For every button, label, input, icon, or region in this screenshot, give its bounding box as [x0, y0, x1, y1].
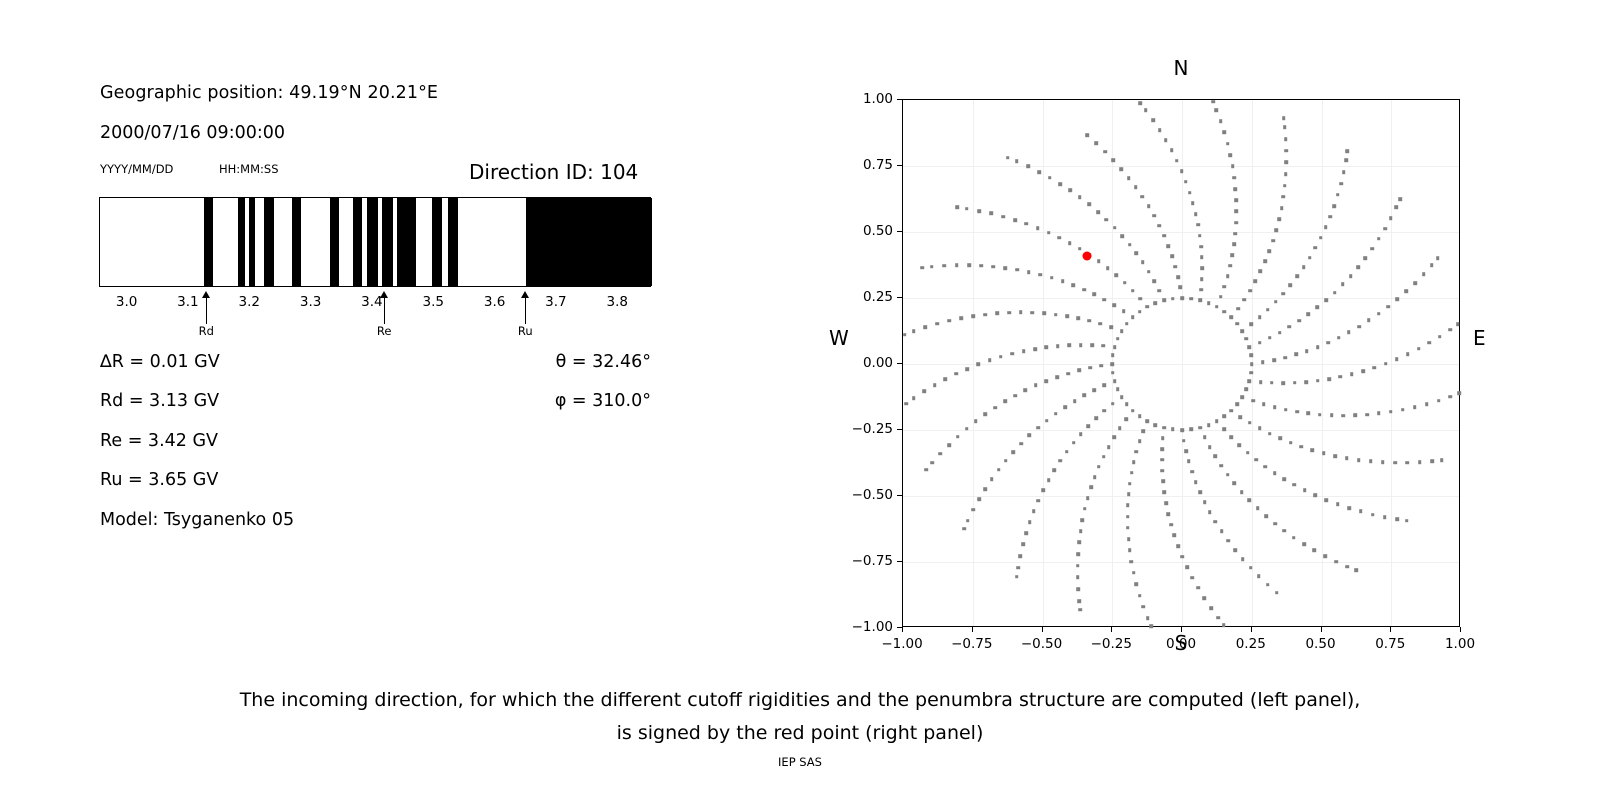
direction-point	[1116, 387, 1120, 391]
direction-point	[1138, 594, 1142, 598]
direction-point	[1236, 402, 1240, 406]
direction-point	[1185, 565, 1189, 569]
direction-point	[967, 264, 971, 268]
direction-point	[1272, 358, 1276, 362]
direction-point	[1293, 483, 1297, 487]
direction-point	[1278, 436, 1282, 440]
direction-point	[1094, 417, 1098, 421]
direction-point	[1229, 153, 1233, 157]
direction-point	[1154, 423, 1158, 427]
direction-point	[1308, 256, 1312, 260]
direction-point	[1393, 461, 1397, 465]
rigidity-tick-label: 3.2	[239, 294, 260, 310]
direction-point	[1449, 395, 1453, 399]
y-axis-tick-label: 1.00	[863, 91, 893, 107]
arrow-label: Ru	[518, 324, 533, 338]
direction-point	[1342, 170, 1346, 174]
direction-point	[1422, 273, 1426, 277]
direction-point	[1124, 418, 1128, 422]
direction-point	[1389, 216, 1393, 220]
direction-point	[1068, 343, 1072, 347]
direction-point	[1163, 490, 1167, 494]
direction-point	[1437, 399, 1441, 403]
direction-point	[1241, 557, 1245, 561]
direction-point	[1089, 486, 1093, 490]
direction-point	[1281, 292, 1285, 296]
direction-point	[1198, 298, 1202, 302]
direction-point	[1160, 447, 1164, 451]
direction-point	[1120, 395, 1124, 399]
direction-point	[1222, 623, 1226, 627]
direction-point	[1082, 394, 1086, 398]
compass-north-label: N	[1174, 56, 1189, 80]
direction-point	[1128, 482, 1132, 486]
direction-point	[1099, 364, 1103, 368]
direction-point	[1054, 412, 1058, 416]
direction-point	[1354, 568, 1358, 572]
direction-point	[1063, 405, 1067, 409]
grid-line-vertical	[973, 100, 974, 626]
direction-point	[1161, 480, 1165, 484]
x-axis-tick-mark	[1390, 627, 1391, 632]
arrow-label: Rd	[199, 324, 214, 338]
direction-point	[983, 313, 987, 317]
direction-point	[1248, 421, 1252, 425]
direction-point	[956, 435, 960, 439]
direction-point	[1344, 159, 1348, 163]
direction-point	[984, 412, 988, 416]
direction-point	[1110, 362, 1114, 366]
direction-point	[922, 390, 926, 394]
direction-point	[1056, 344, 1060, 348]
direction-point	[1021, 543, 1025, 547]
direction-point	[1102, 344, 1106, 348]
x-axis-tick-mark	[1251, 627, 1252, 632]
direction-point	[1328, 215, 1332, 219]
direction-point	[1230, 409, 1234, 413]
direction-id-label: Direction ID: 104	[469, 160, 638, 184]
y-axis-tick-label: −0.25	[852, 421, 893, 437]
direction-point	[1369, 460, 1373, 464]
direction-point	[1125, 322, 1129, 326]
x-axis-tick-mark	[1111, 627, 1112, 632]
direction-point	[1333, 454, 1337, 458]
direction-point	[1284, 408, 1288, 412]
parameter-left-value: Ru = 3.65 GV	[100, 470, 218, 490]
direction-point	[1161, 437, 1165, 441]
direction-point	[1428, 341, 1432, 345]
direction-point	[1127, 176, 1131, 180]
direction-point	[1135, 450, 1139, 454]
direction-point	[1045, 345, 1049, 349]
direction-point	[1149, 625, 1153, 629]
direction-point	[1405, 519, 1409, 523]
direction-point	[1394, 206, 1398, 210]
direction-point	[1223, 131, 1227, 135]
penumbra-forbidden-band	[367, 198, 378, 286]
direction-point	[1236, 307, 1240, 311]
penumbra-plot-area	[99, 197, 651, 287]
direction-point	[1173, 265, 1177, 269]
direction-point	[1037, 499, 1041, 503]
direction-point	[1047, 478, 1051, 482]
direction-point	[1120, 234, 1124, 238]
direction-point	[1258, 315, 1262, 319]
y-axis-tick-mark	[897, 429, 902, 430]
direction-point	[1096, 210, 1100, 214]
direction-point	[1270, 381, 1274, 385]
rigidity-tick-label: 3.6	[484, 294, 505, 310]
direction-point	[1107, 445, 1111, 449]
direction-point	[1013, 218, 1017, 222]
direction-point	[1280, 206, 1284, 210]
direction-point	[1093, 475, 1097, 479]
direction-point	[1258, 341, 1262, 345]
penumbra-forbidden-band	[526, 198, 652, 286]
direction-point	[1160, 469, 1164, 473]
direction-point	[1198, 426, 1202, 430]
direction-point	[1263, 259, 1267, 263]
direction-point	[1130, 471, 1134, 475]
caption-line-1: The incoming direction, for which the di…	[0, 684, 1600, 717]
direction-point	[1248, 498, 1252, 502]
direction-point	[1248, 379, 1252, 383]
direction-point	[1076, 552, 1080, 556]
direction-point	[1087, 203, 1091, 207]
direction-point	[1007, 311, 1011, 315]
direction-point	[1250, 362, 1254, 366]
direction-point	[1228, 264, 1232, 268]
direction-point	[1171, 297, 1175, 301]
direction-point	[1214, 520, 1218, 524]
direction-point	[999, 355, 1003, 359]
direction-point	[1282, 116, 1286, 120]
direction-point	[1251, 399, 1255, 403]
direction-point	[933, 383, 937, 387]
direction-point	[1314, 494, 1318, 498]
direction-point	[1281, 381, 1285, 385]
direction-point	[1151, 118, 1155, 122]
direction-point	[995, 312, 999, 316]
direction-point	[1345, 456, 1349, 460]
direction-point	[1357, 458, 1361, 462]
parameter-row: Ru = 3.65 GV	[100, 470, 660, 509]
direction-point	[1057, 236, 1061, 240]
direction-point	[1264, 465, 1268, 469]
direction-point	[1180, 169, 1184, 173]
direction-point	[955, 264, 959, 268]
direction-point	[1147, 270, 1151, 274]
direction-point	[1208, 510, 1212, 514]
direction-point	[1303, 489, 1307, 493]
x-axis-tick-mark	[972, 627, 973, 632]
direction-point	[1113, 379, 1117, 383]
x-axis-tick-mark	[902, 627, 903, 632]
direction-point	[1079, 433, 1083, 437]
direction-point	[1233, 548, 1237, 552]
direction-point	[936, 322, 940, 326]
direction-point	[1004, 459, 1008, 463]
direction-point	[1278, 331, 1282, 335]
direction-point	[1199, 288, 1203, 292]
direction-point	[1238, 443, 1242, 447]
penumbra-forbidden-band	[238, 198, 245, 286]
direction-point	[1302, 265, 1306, 269]
direction-point	[1028, 520, 1032, 524]
direction-point	[1138, 439, 1142, 443]
direction-point	[1267, 249, 1271, 253]
direction-point	[1178, 286, 1182, 290]
direction-point	[1048, 176, 1052, 180]
direction-point	[1079, 608, 1083, 612]
direction-point	[1241, 395, 1245, 399]
direction-point	[1346, 150, 1350, 154]
direction-point	[1283, 356, 1287, 360]
direction-point	[1327, 377, 1331, 381]
direction-point	[1097, 260, 1101, 264]
direction-point	[1052, 469, 1056, 473]
direction-point	[966, 519, 970, 523]
direction-point	[912, 396, 916, 400]
direction-point	[1180, 296, 1184, 300]
direction-point	[1103, 409, 1107, 413]
direction-point	[954, 372, 958, 376]
direction-point	[1315, 306, 1319, 310]
direction-point	[1045, 379, 1049, 383]
direction-point	[1015, 160, 1019, 164]
direction-point	[1240, 490, 1244, 494]
direction-point	[1377, 237, 1381, 241]
rigidity-tick-label: 3.7	[545, 294, 566, 310]
direction-point	[1242, 298, 1246, 302]
parameter-row: Rd = 3.13 GVφ = 310.0°	[100, 391, 660, 430]
direction-point	[1061, 280, 1065, 284]
direction-point	[1102, 455, 1106, 459]
direction-point	[1170, 254, 1174, 258]
direction-point	[1341, 414, 1345, 418]
x-axis-tick-mark	[1042, 627, 1043, 632]
direction-point	[1440, 458, 1444, 462]
direction-point	[1256, 507, 1260, 511]
direction-point	[1158, 224, 1162, 228]
direction-point	[1283, 125, 1287, 129]
direction-point	[1395, 517, 1399, 521]
direction-point	[1300, 445, 1304, 449]
y-axis-tick-label: −0.75	[852, 553, 893, 569]
direction-point	[1122, 309, 1126, 313]
direction-point	[977, 363, 981, 367]
rigidity-tick-label: 3.3	[300, 294, 321, 310]
direction-point	[1386, 305, 1390, 309]
direction-point	[1216, 616, 1220, 620]
x-axis-tick-label: −0.25	[1091, 636, 1132, 652]
caption-line-2: is signed by the red point (right panel)	[0, 717, 1600, 750]
direction-point	[1203, 436, 1207, 440]
direction-point	[1203, 596, 1207, 600]
direction-point	[1347, 506, 1351, 510]
direction-point	[1226, 142, 1230, 146]
direction-point	[1277, 217, 1281, 221]
penumbra-forbidden-band	[397, 198, 415, 286]
direction-point	[1365, 413, 1369, 417]
direction-point	[1200, 266, 1204, 270]
direction-point	[1213, 455, 1217, 459]
direction-point	[1103, 150, 1107, 154]
direction-point	[1058, 182, 1062, 186]
direction-point	[1097, 465, 1101, 469]
direction-point	[1095, 142, 1099, 146]
direction-point	[1022, 349, 1026, 353]
direction-point	[1160, 458, 1164, 462]
x-axis-tick-label: 0.75	[1375, 636, 1405, 652]
parameter-left-value: Rd = 3.13 GV	[100, 391, 219, 411]
grid-line-vertical	[1182, 100, 1183, 626]
direction-point	[1006, 156, 1010, 160]
grid-line-horizontal	[903, 562, 1459, 563]
direction-point	[1015, 575, 1019, 579]
footer-attribution: IEP SAS	[0, 755, 1600, 769]
direction-point	[965, 207, 969, 211]
direction-point	[977, 498, 981, 502]
direction-point	[1271, 239, 1275, 243]
direction-point	[1113, 345, 1117, 349]
direction-point	[1364, 256, 1368, 260]
direction-point	[959, 316, 963, 320]
direction-point	[1109, 325, 1113, 329]
selected-direction-marker[interactable]	[1083, 251, 1092, 260]
direction-point	[1003, 400, 1007, 404]
direction-point	[1152, 214, 1156, 218]
rigidity-axis: 3.03.13.23.33.43.53.63.73.8RdReRu	[99, 287, 651, 349]
direction-point	[1181, 555, 1185, 559]
direction-point	[924, 326, 928, 330]
direction-point	[979, 264, 983, 268]
direction-point	[1219, 295, 1223, 299]
direction-point	[1162, 426, 1166, 430]
direction-point	[1215, 419, 1219, 423]
right-panel: N S W E −1.00−0.75−0.50−0.250.000.250.50…	[820, 40, 1520, 660]
direction-point	[1189, 297, 1193, 301]
direction-point	[1381, 460, 1385, 464]
direction-point	[1223, 310, 1227, 314]
direction-point	[1039, 273, 1043, 277]
direction-point	[944, 377, 948, 381]
direction-point	[1115, 274, 1119, 278]
x-axis-tick-mark	[1321, 627, 1322, 632]
figure-root: Geographic position: 49.19°N 20.21°E 200…	[0, 0, 1600, 800]
direction-point	[1041, 488, 1045, 492]
direction-point	[1305, 349, 1309, 353]
direction-point	[1176, 544, 1180, 548]
direction-point	[1189, 428, 1193, 432]
parameter-row: Re = 3.42 GV	[100, 431, 660, 470]
direction-point	[1073, 399, 1077, 403]
direction-point	[1092, 388, 1096, 392]
direction-point	[1231, 165, 1235, 169]
direction-point	[1135, 252, 1139, 256]
direction-point	[1226, 539, 1230, 543]
direction-point	[1016, 566, 1020, 570]
direction-point	[1232, 176, 1236, 180]
direction-point	[1191, 201, 1195, 205]
direction-point	[1257, 574, 1261, 578]
arrow-label: Re	[377, 324, 392, 338]
grid-line-vertical	[1322, 100, 1323, 626]
direction-point	[904, 402, 908, 406]
direction-point	[1093, 293, 1097, 297]
direction-point	[1273, 522, 1277, 526]
direction-point	[1211, 100, 1215, 104]
direction-point	[1371, 513, 1375, 517]
rigidity-tick-label: 3.5	[423, 294, 444, 310]
direction-point	[1105, 218, 1109, 222]
direction-point	[1353, 414, 1357, 418]
direction-point	[1127, 493, 1131, 497]
direction-point	[1034, 384, 1038, 388]
direction-point	[1239, 415, 1243, 419]
direction-point	[1125, 402, 1129, 406]
direction-point	[1324, 298, 1328, 302]
direction-point	[1054, 313, 1058, 317]
direction-point	[1138, 310, 1142, 314]
y-axis-tick-mark	[897, 231, 902, 232]
direction-point	[1413, 405, 1417, 409]
direction-point	[1377, 412, 1381, 416]
direction-point	[1126, 526, 1130, 530]
direction-point	[1324, 226, 1328, 230]
y-axis-tick-label: 0.75	[863, 157, 893, 173]
direction-point	[1087, 424, 1091, 428]
direction-point	[974, 420, 978, 424]
direction-point	[1081, 518, 1085, 522]
direction-point	[1112, 436, 1116, 440]
direction-point	[1209, 606, 1213, 610]
penumbra-forbidden-band	[330, 198, 339, 286]
direction-point	[1019, 311, 1023, 315]
direction-point	[1306, 313, 1310, 317]
direction-point	[1254, 279, 1258, 283]
direction-point	[1384, 362, 1388, 366]
direction-point	[1275, 228, 1279, 232]
direction-point	[1134, 185, 1138, 189]
direction-point	[1339, 182, 1343, 186]
y-axis-tick-mark	[897, 363, 902, 364]
rigidity-tick-label: 3.8	[607, 294, 628, 310]
direction-point	[1131, 409, 1135, 413]
x-axis-tick-label: −0.50	[1021, 636, 1062, 652]
direction-point	[1198, 490, 1202, 494]
direction-point	[1126, 515, 1130, 519]
direction-point	[1316, 379, 1320, 383]
direction-point	[1292, 536, 1296, 540]
penumbra-forbidden-band	[292, 198, 301, 286]
direction-point	[1167, 512, 1171, 516]
direction-point	[1171, 428, 1175, 432]
direction-point	[1377, 312, 1381, 316]
direction-point	[1231, 253, 1235, 257]
direction-point	[1339, 375, 1343, 379]
direction-point	[1316, 345, 1320, 349]
direction-point	[1036, 226, 1040, 230]
direction-point	[1042, 312, 1046, 316]
direction-point	[1144, 108, 1148, 112]
direction-point	[1425, 402, 1429, 406]
direction-point	[1138, 415, 1142, 419]
direction-point	[1234, 187, 1238, 191]
direction-point	[1152, 279, 1156, 283]
direction-point	[1318, 413, 1322, 417]
direction-point	[1194, 480, 1198, 484]
